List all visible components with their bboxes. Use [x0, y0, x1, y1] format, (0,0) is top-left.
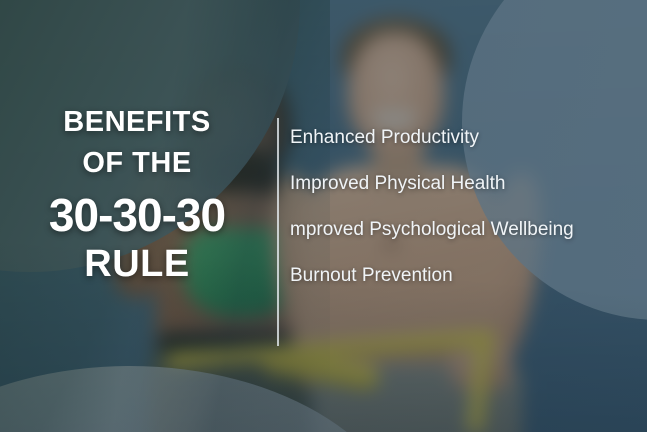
list-item: mproved Psychological Wellbeing: [290, 220, 640, 239]
list-item: Enhanced Productivity: [290, 128, 640, 147]
page-title: BENEFITS OF THE 30-30-30 RULE: [6, 108, 268, 284]
list-item: Improved Physical Health: [290, 174, 640, 193]
slide-canvas: BENEFITS OF THE 30-30-30 RULE Enhanced P…: [0, 0, 647, 432]
slide-content: BENEFITS OF THE 30-30-30 RULE Enhanced P…: [0, 0, 647, 432]
title-line-of-the: OF THE: [6, 149, 268, 179]
title-line-benefits: BENEFITS: [6, 108, 268, 138]
vertical-divider: [277, 118, 279, 346]
list-item: Burnout Prevention: [290, 266, 640, 285]
benefits-list: Enhanced Productivity Improved Physical …: [290, 128, 640, 285]
title-line-rule: RULE: [6, 245, 268, 284]
title-line-303030: 30-30-30: [6, 192, 268, 239]
